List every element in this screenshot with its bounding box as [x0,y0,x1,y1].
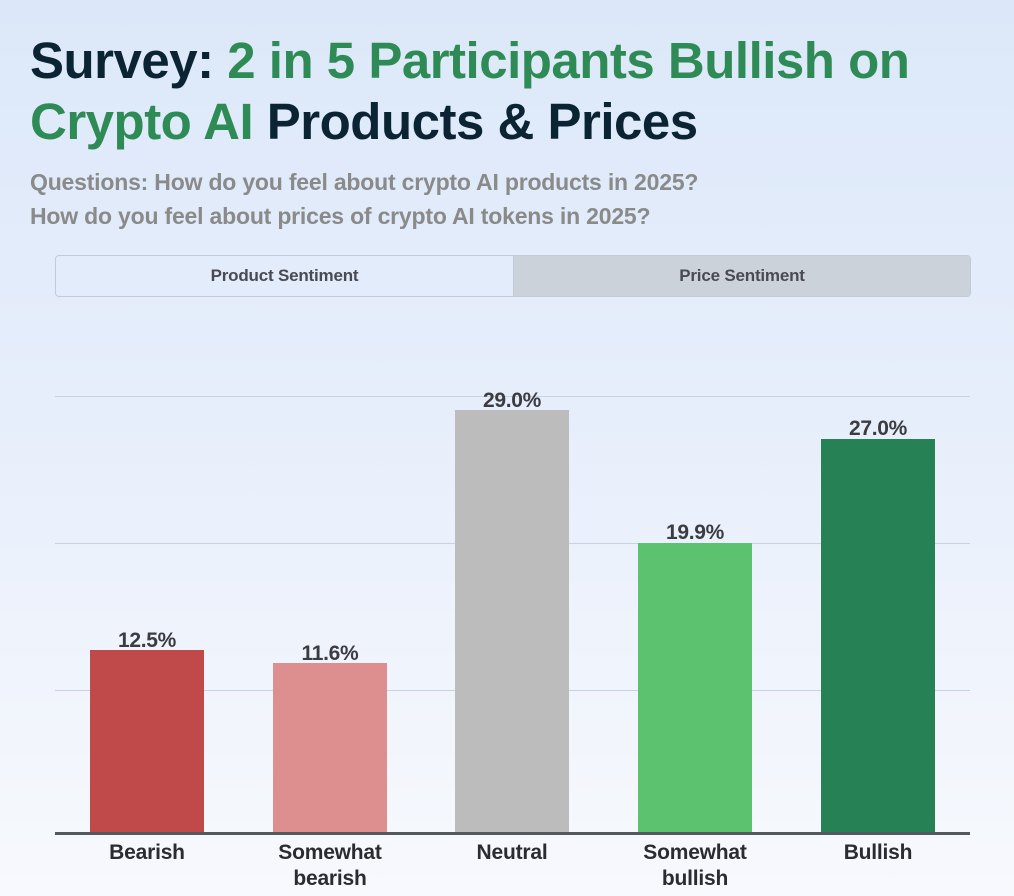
tab-price-sentiment-label: Price Sentiment [679,266,805,286]
bar-neutral[interactable] [455,410,569,832]
gridline-20 [55,543,970,544]
title-segment-plain-2: Products & Prices [253,93,698,150]
tab-product-sentiment[interactable]: Product Sentiment [56,256,513,296]
gridline-30 [55,396,970,397]
category-label-bearish: Bearish [75,840,219,866]
tab-bar: Product Sentiment Price Sentiment [55,255,971,297]
category-label-somewhat-bullish: Somewhat bullish [623,840,767,891]
bar-bullish[interactable] [821,439,935,832]
subtitle: Questions: How do you feel about crypto … [30,166,984,233]
title-segment-plain-1: Survey: [30,32,227,89]
bar-somewhat-bearish[interactable] [273,663,387,832]
subtitle-line-2: How do you feel about prices of crypto A… [30,200,984,233]
header: Survey: 2 in 5 Participants Bullish on C… [0,0,1014,233]
bar-value-bullish: 27.0% [821,417,935,441]
bar-value-neutral: 29.0% [455,389,569,413]
bar-value-somewhat-bearish: 11.6% [273,642,387,666]
bar-somewhat-bullish[interactable] [638,543,752,832]
tab-product-sentiment-label: Product Sentiment [211,266,359,286]
bar-bearish[interactable] [90,650,204,832]
gridline-10 [55,690,970,691]
bar-value-somewhat-bullish: 19.9% [638,521,752,545]
tab-price-sentiment[interactable]: Price Sentiment [513,256,970,296]
category-label-neutral: Neutral [440,840,584,866]
category-label-somewhat-bearish: Somewhat bearish [258,840,402,891]
category-label-bullish: Bullish [806,840,950,866]
subtitle-line-1: Questions: How do you feel about crypto … [30,166,984,199]
bar-value-bearish: 12.5% [90,629,204,653]
x-axis-line [55,832,970,835]
page-title: Survey: 2 in 5 Participants Bullish on C… [30,30,984,152]
